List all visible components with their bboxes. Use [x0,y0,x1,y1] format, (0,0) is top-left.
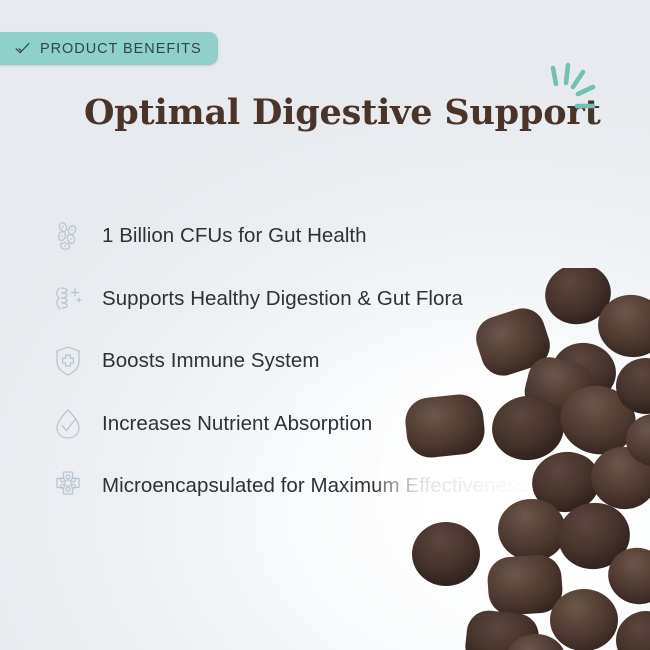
product-benefits-badge: PRODUCT BENEFITS [0,32,218,65]
shield-cross-icon [48,341,88,381]
capsule-molecule-icon [48,466,88,506]
badge-label: PRODUCT BENEFITS [40,41,202,57]
benefit-text: 1 Billion CFUs for Gut Health [102,224,367,248]
intestine-sparkle-icon [48,279,88,319]
infographic-canvas: PRODUCT BENEFITS Optimal Digestive Suppo… [0,0,650,650]
benefit-text: Increases Nutrient Absorption [102,412,372,436]
sparkle-burst-icon [541,62,603,124]
page-title: Optimal Digestive Support [84,92,601,133]
benefit-row: 1 Billion CFUs for Gut Health [48,205,618,268]
droplet-check-icon [48,404,88,444]
chocolate-coated-supplement-chews [370,268,650,650]
probiotic-bacteria-icon [48,216,88,256]
check-icon [14,40,31,57]
benefit-text: Boosts Immune System [102,349,319,373]
